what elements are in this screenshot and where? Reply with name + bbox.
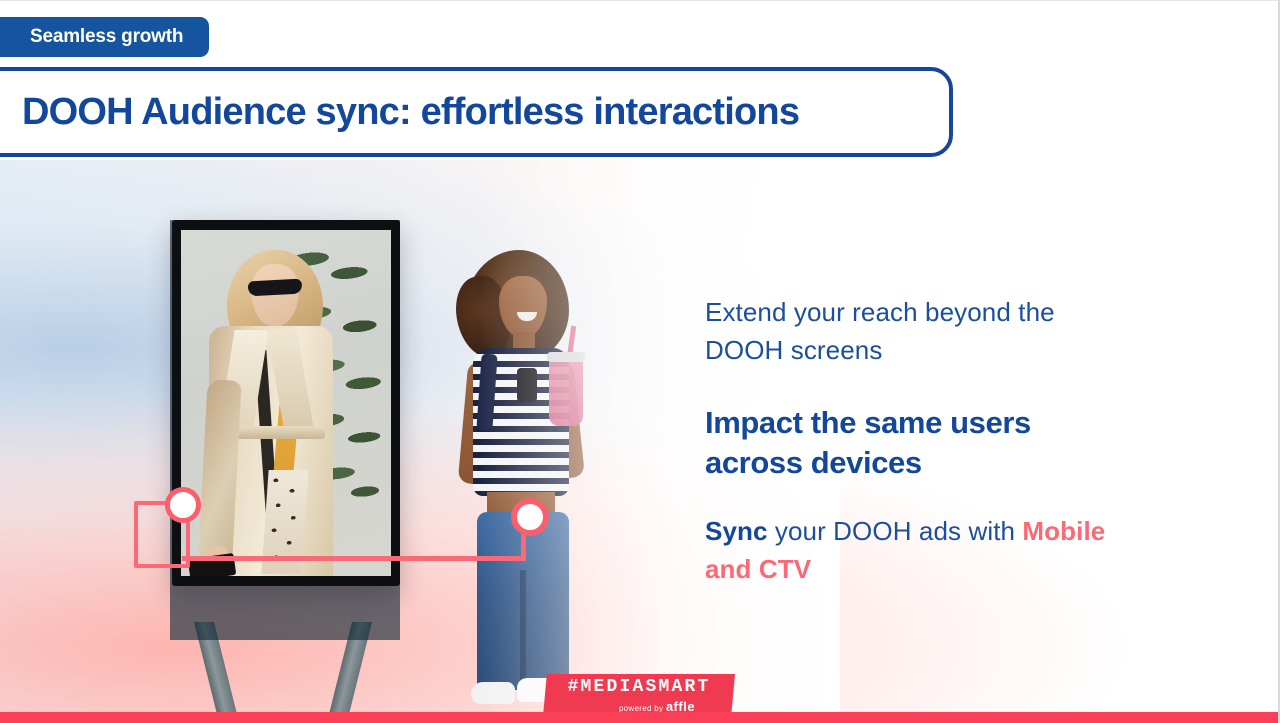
billboard-screen-fashion-ad [181,230,391,576]
connector-dot-billboard [165,487,201,523]
brand-badge: #MEDIASMART powered by affle [543,674,735,716]
copy-column: Extend your reach beyond the DOOH screen… [705,294,1125,589]
copy-block-sync-devices: Sync your DOOH ads with Mobile and CTV [705,513,1125,588]
copy-block-impact-users: Impact the same users across devices [705,403,1125,482]
copy-block-extend-reach: Extend your reach beyond the DOOH screen… [705,294,1125,370]
copy-sync-lead: Sync [705,516,768,546]
brand-powered-by: powered by affle [619,700,695,713]
billboard-frame [172,220,400,586]
slide-title-box: DOOH Audience sync: effortless interacti… [0,67,953,157]
sunglasses-icon [248,279,303,297]
connector-line [182,556,525,561]
bottom-accent-strip [0,712,1280,723]
eyebrow-tag-label: Seamless growth [30,26,183,48]
digital-billboard [170,220,400,713]
connector-dot-phone [511,498,549,536]
eyebrow-tag-pill: Seamless growth [0,17,209,57]
slide-canvas: Seamless growth DOOH Audience sync: effo… [0,0,1280,723]
copy-sync-middle: your DOOH ads with [768,516,1023,546]
page-title: DOOH Audience sync: effortless interacti… [0,91,799,134]
brand-name: #MEDIASMART [567,678,710,696]
